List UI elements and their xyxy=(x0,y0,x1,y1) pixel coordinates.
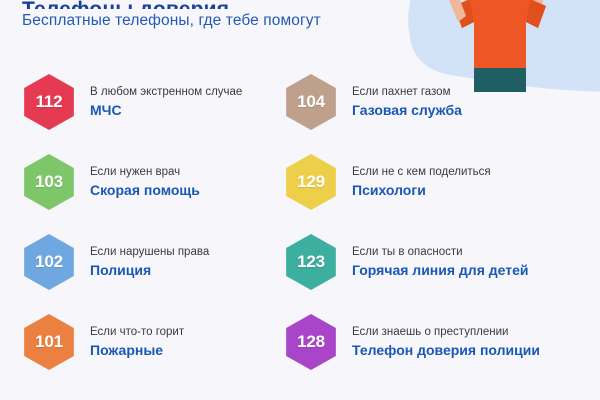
service-caption: Если знаешь о преступлении xyxy=(352,325,540,339)
service-text-block: Если что-то горитПожарные xyxy=(90,325,184,359)
service-name: Скорая помощь xyxy=(90,182,200,199)
service-name: Полиция xyxy=(90,262,209,279)
service-name: Горячая линия для детей xyxy=(352,262,529,279)
service-caption: Если нарушены права xyxy=(90,245,209,259)
service-caption: В любом экстренном случае xyxy=(90,85,242,99)
service-caption: Если ты в опасности xyxy=(352,245,529,259)
service-entry-112[interactable]: 112В любом экстренном случаеМЧС xyxy=(0,62,270,142)
page-subtitle: Бесплатные телефоны, где тебе помогут xyxy=(22,12,442,30)
phone-number-badge-102: 102 xyxy=(22,234,76,290)
service-name: Газовая служба xyxy=(352,102,462,119)
service-entry-123[interactable]: 123Если ты в опасностиГорячая линия для … xyxy=(270,222,600,302)
service-entry-101[interactable]: 101Если что-то горитПожарные xyxy=(0,302,270,382)
service-text-block: Если не с кем поделитьсяПсихологи xyxy=(352,165,491,199)
service-caption: Если что-то горит xyxy=(90,325,184,339)
phone-number-badge-129: 129 xyxy=(284,154,338,210)
service-entry-128[interactable]: 128Если знаешь о преступленииТелефон дов… xyxy=(270,302,600,382)
service-text-block: Если знаешь о преступленииТелефон довери… xyxy=(352,325,540,359)
service-caption: Если нужен врач xyxy=(90,165,200,179)
service-caption: Если не с кем поделиться xyxy=(352,165,491,179)
service-text-block: Если нарушены праваПолиция xyxy=(90,245,209,279)
service-entry-129[interactable]: 129Если не с кем поделитьсяПсихологи xyxy=(270,142,600,222)
phone-number-badge-103: 103 xyxy=(22,154,76,210)
phone-number-badge-104: 104 xyxy=(284,74,338,130)
page-title: Телефоны доверия xyxy=(22,0,442,9)
service-name: Психологи xyxy=(352,182,491,199)
service-caption: Если пахнет газом xyxy=(352,85,462,99)
phone-number-badge-123: 123 xyxy=(284,234,338,290)
service-entry-102[interactable]: 102Если нарушены праваПолиция xyxy=(0,222,270,302)
service-name: Телефон доверия полиции xyxy=(352,342,540,359)
service-text-block: В любом экстренном случаеМЧС xyxy=(90,85,242,119)
service-name: МЧС xyxy=(90,102,242,119)
service-name: Пожарные xyxy=(90,342,184,359)
phone-number-badge-101: 101 xyxy=(22,314,76,370)
phone-number-badge-128: 128 xyxy=(284,314,338,370)
phone-number-badge-112: 112 xyxy=(22,74,76,130)
service-text-block: Если пахнет газомГазовая служба xyxy=(352,85,462,119)
emergency-numbers-grid: 112В любом экстренном случаеМЧС104Если п… xyxy=(0,62,600,382)
service-text-block: Если нужен врачСкорая помощь xyxy=(90,165,200,199)
page-header: Телефоны доверия Бесплатные телефоны, гд… xyxy=(22,0,442,30)
service-entry-104[interactable]: 104Если пахнет газомГазовая служба xyxy=(270,62,600,142)
service-entry-103[interactable]: 103Если нужен врачСкорая помощь xyxy=(0,142,270,222)
service-text-block: Если ты в опасностиГорячая линия для дет… xyxy=(352,245,529,279)
